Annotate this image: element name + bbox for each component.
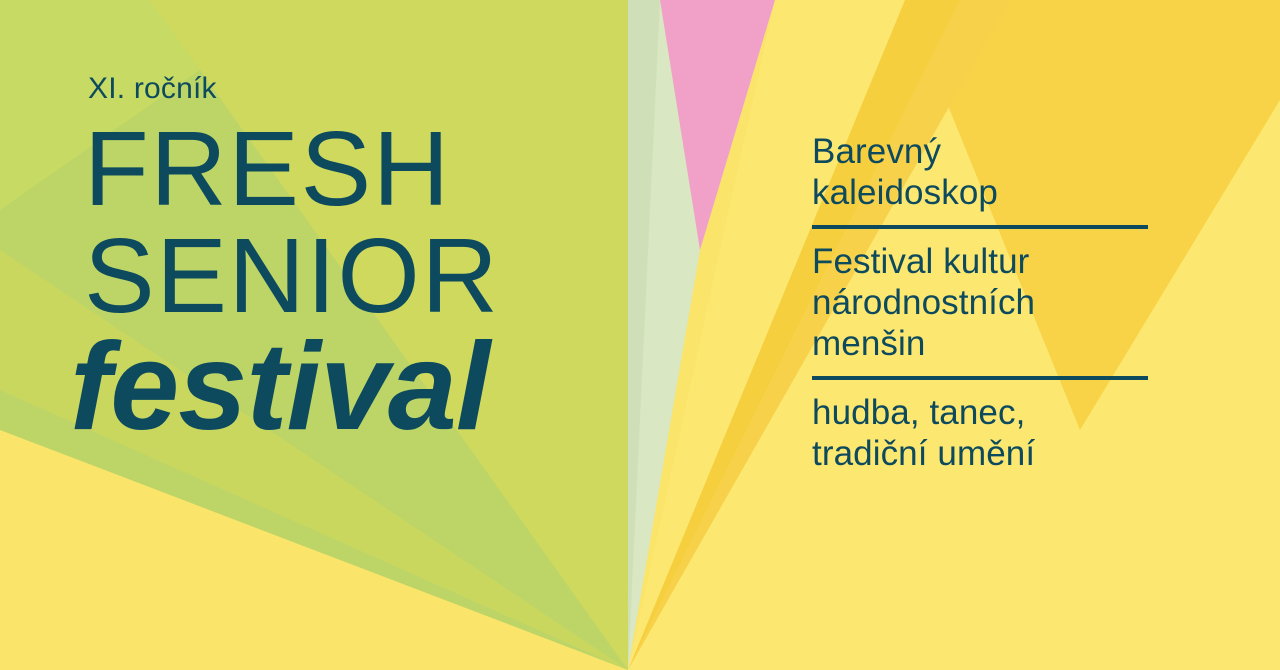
tagline-line-2: tradiční umění (812, 434, 1148, 475)
description-line-3: menšin (812, 324, 1148, 365)
edition-label: XI. ročník (88, 74, 684, 104)
subtitle-line-2: kaleidoskop (812, 173, 1148, 214)
subtitle-line-1: Barevný (812, 132, 1148, 173)
title-word-festival: festival (70, 324, 684, 450)
headline-block: XI. ročník FRESH SENIOR festival (84, 74, 684, 450)
tagline-line-1: hudba, tanec, (812, 393, 1148, 434)
festival-poster: XI. ročník FRESH SENIOR festival Barevný… (0, 0, 1280, 670)
description-line-2: národnostních (812, 283, 1148, 324)
info-group-description: Festival kultur národnostních menšin (812, 242, 1148, 365)
info-block: Barevný kaleidoskop Festival kultur náro… (812, 132, 1148, 475)
title-word-senior: SENIOR (84, 225, 684, 328)
divider-rule-2 (812, 376, 1148, 380)
info-group-tagline: hudba, tanec, tradiční umění (812, 393, 1148, 475)
title-word-fresh: FRESH (84, 118, 684, 221)
description-line-1: Festival kultur (812, 242, 1148, 283)
info-group-subtitle: Barevný kaleidoskop (812, 132, 1148, 214)
divider-rule-1 (812, 225, 1148, 229)
